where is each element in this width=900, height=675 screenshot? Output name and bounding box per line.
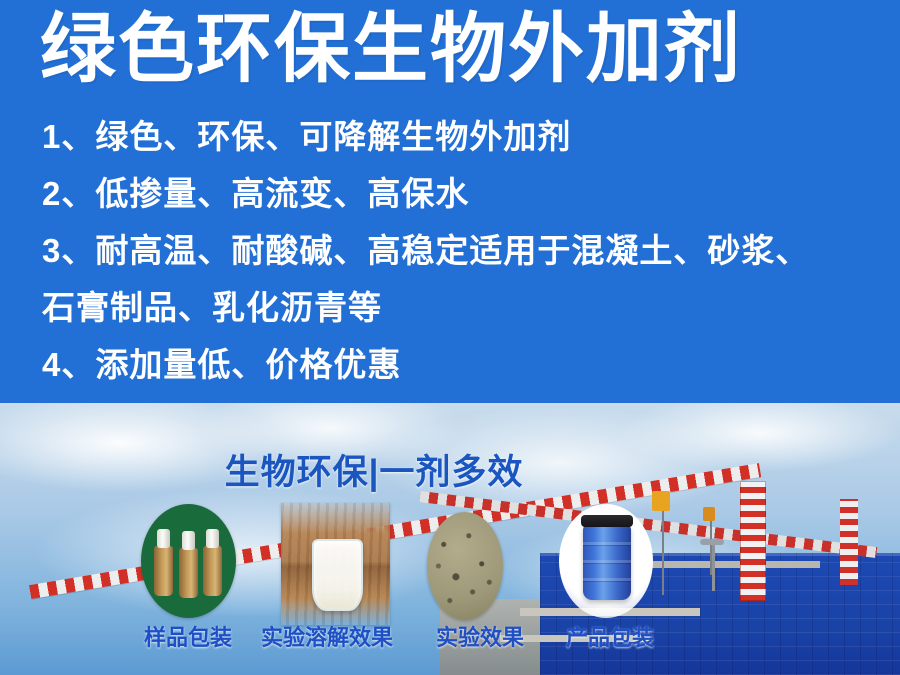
thumbnail-caption-1: 样品包装 [140,624,236,652]
street-lamp-head-icon [700,539,724,545]
feature-list: 1、绿色、环保、可降解生物外加剂 2、低掺量、高流变、高保水 3、耐高温、耐酸碱… [42,108,872,393]
thumbnail-mortar-result [427,512,503,620]
thumbnail-caption-4: 产品包装 [562,624,658,652]
drum-rib [583,560,631,563]
thumbnail-product-packaging [559,504,653,618]
headline-panel: 绿色环保生物外加剂 1、绿色、环保、可降解生物外加剂 2、低掺量、高流变、高保水… [0,0,900,403]
feature-item-4: 4、添加量低、价格优惠 [42,336,872,393]
thumbnail-caption-3: 实验效果 [432,624,528,652]
feature-item-2: 2、低掺量、高流变、高保水 [42,165,872,222]
sample-bottle-icon [203,546,222,596]
drum-rib [583,578,631,581]
blue-drum-icon [583,524,631,600]
thumbnail-dissolution-test [281,503,390,625]
crane-hook-icon [652,491,670,511]
crane-hook-icon [703,507,715,521]
street-lamp-icon [712,543,715,591]
sample-bottle-icon [154,546,173,596]
thumbnail-caption-2: 实验溶解效果 [258,624,396,652]
crane-cable [662,499,664,595]
drum-rib [583,542,631,545]
feature-item-1: 1、绿色、环保、可降解生物外加剂 [42,108,872,165]
thumbnail-sample-bottles [141,504,236,618]
feature-item-3-continued: 石膏制品、乳化沥青等 [42,279,872,336]
section-subtitle: 生物环保|一剂多效 [0,452,748,494]
sample-bottle-icon [179,548,198,598]
page-title: 绿色环保生物外加剂 [40,6,742,94]
beaker-icon [312,539,363,611]
feature-item-3: 3、耐高温、耐酸碱、高稳定适用于混凝土、砂浆、 [42,222,872,279]
product-promo-banner: 绿色环保生物外加剂 1、绿色、环保、可降解生物外加剂 2、低掺量、高流变、高保水… [0,0,900,675]
secondary-crane-mast-icon [840,499,858,585]
tower-crane-mast-icon [740,481,766,601]
